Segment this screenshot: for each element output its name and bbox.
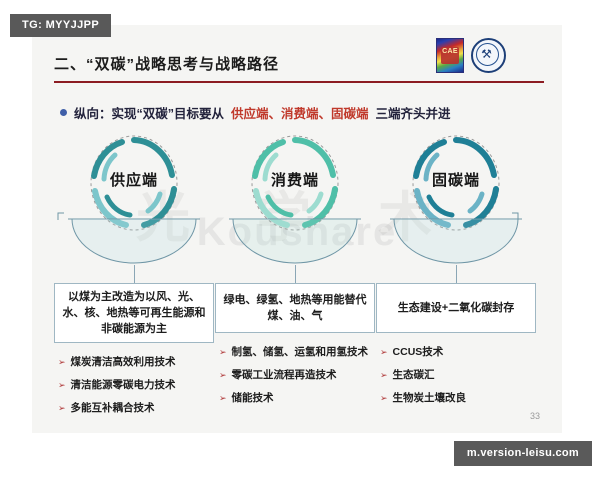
description-box-supply: 以煤为主改造为以风、光、水、核、地热等可再生能源和非碳能源为主 (54, 283, 214, 343)
cae-logo-icon: CAE (436, 38, 464, 73)
arrow-bullet-icon: ➢ (219, 368, 227, 382)
site-watermark-badge: m.version-leisu.com (454, 441, 592, 466)
slide-title: 二、“双碳”战略思考与战略路径 (54, 53, 279, 74)
connector-line-sequestration (456, 265, 457, 283)
bowl-graphic-consumption (215, 211, 375, 265)
list-item-label: 生态碳汇 (393, 368, 435, 382)
list-item: ➢ 生物炭土壤改良 (380, 391, 536, 405)
ring-label-supply: 供应端 (54, 169, 214, 190)
pillar-column-supply: 供应端 以煤为主改造为以风、光、水、核、地热等可再生能源和非碳能源为主 ➢ 煤炭… (54, 129, 214, 424)
list-item: ➢ 煤炭清洁高效利用技术 (58, 355, 214, 369)
list-item-label: 多能互补耦合技术 (71, 401, 155, 415)
connector-line-consumption (295, 265, 296, 283)
connector-line-supply (134, 265, 135, 283)
arrow-bullet-icon: ➢ (380, 368, 388, 382)
arrow-bullet-icon: ➢ (380, 345, 388, 359)
ring-label-sequestration: 固碳端 (376, 169, 536, 190)
bowl-graphic-supply (54, 211, 214, 265)
list-item: ➢ 制氢、储氢、运氢和用氢技术 (219, 345, 375, 359)
headline-highlight: 供应端、消费端、固碳端 (231, 103, 369, 122)
list-item: ➢ 清洁能源零碳电力技术 (58, 378, 214, 392)
arrow-bullet-icon: ➢ (58, 378, 66, 392)
list-item-label: 零碳工业流程再造技术 (232, 368, 337, 382)
list-item: ➢ 零碳工业流程再造技术 (219, 368, 375, 382)
tech-list-consumption: ➢ 制氢、储氢、运氢和用氢技术 ➢ 零碳工业流程再造技术 ➢ 储能技术 (215, 345, 375, 405)
headline-suffix: 三端齐头并进 (376, 103, 451, 122)
tech-list-sequestration: ➢ CCUS技术 ➢ 生态碳汇 ➢ 生物炭土壤改良 (376, 345, 536, 405)
institute-seal-icon: ⚒ (471, 38, 506, 73)
list-item: ➢ 生态碳汇 (380, 368, 536, 382)
headline-prefix: 纵向：实现“双碳”目标要从 (74, 103, 224, 122)
list-item-label: 储能技术 (232, 391, 274, 405)
tech-list-supply: ➢ 煤炭清洁高效利用技术 ➢ 清洁能源零碳电力技术 ➢ 多能互补耦合技术 (54, 355, 214, 415)
description-box-consumption: 绿电、绿氢、地热等用能替代煤、油、气 (215, 283, 375, 333)
pillar-column-sequestration: 固碳端 生态建设+二氧化碳封存 ➢ CCUS技术 ➢ 生态碳汇 ➢ 生物炭土壤改… (376, 129, 536, 414)
list-item: ➢ CCUS技术 (380, 345, 536, 359)
ring-label-consumption: 消费端 (215, 169, 375, 190)
pillar-column-consumption: 消费端 绿电、绿氢、地热等用能替代煤、油、气 ➢ 制氢、储氢、运氢和用氢技术 ➢… (215, 129, 375, 414)
arrow-bullet-icon: ➢ (219, 391, 227, 405)
description-box-sequestration: 生态建设+二氧化碳封存 (376, 283, 536, 333)
headline-bullet-row: 纵向：实现“双碳”目标要从供应端、消费端、固碳端三端齐头并进 (60, 103, 451, 122)
list-item-label: 生物炭土壤改良 (393, 391, 467, 405)
title-divider (54, 81, 544, 83)
logo-group: CAE ⚒ (436, 38, 506, 73)
seal-mark-glyph: ⚒ (473, 44, 500, 65)
list-item-label: 清洁能源零碳电力技术 (71, 378, 176, 392)
bowl-shape-consumption (215, 211, 375, 265)
page-number: 33 (530, 411, 540, 421)
arrow-bullet-icon: ➢ (58, 401, 66, 415)
arrow-bullet-icon: ➢ (219, 345, 227, 359)
list-item-label: CCUS技术 (393, 345, 444, 359)
arrow-bullet-icon: ➢ (58, 355, 66, 369)
list-item: ➢ 储能技术 (219, 391, 375, 405)
bowl-shape-sequestration (376, 211, 536, 265)
telegram-watermark-badge: TG: MYYJJPP (10, 14, 111, 37)
arrow-bullet-icon: ➢ (380, 391, 388, 405)
presentation-slide: 光 学 术 Koushare 二、“双碳”战略思考与战略路径 CAE ⚒ 纵向：… (32, 25, 562, 433)
bowl-shape-supply (54, 211, 214, 265)
list-item-label: 煤炭清洁高效利用技术 (71, 355, 176, 369)
bowl-graphic-sequestration (376, 211, 536, 265)
list-item-label: 制氢、储氢、运氢和用氢技术 (232, 345, 369, 359)
cae-logo-text: CAE (437, 48, 463, 56)
list-item: ➢ 多能互补耦合技术 (58, 401, 214, 415)
headline-bullet-dot (60, 109, 67, 116)
